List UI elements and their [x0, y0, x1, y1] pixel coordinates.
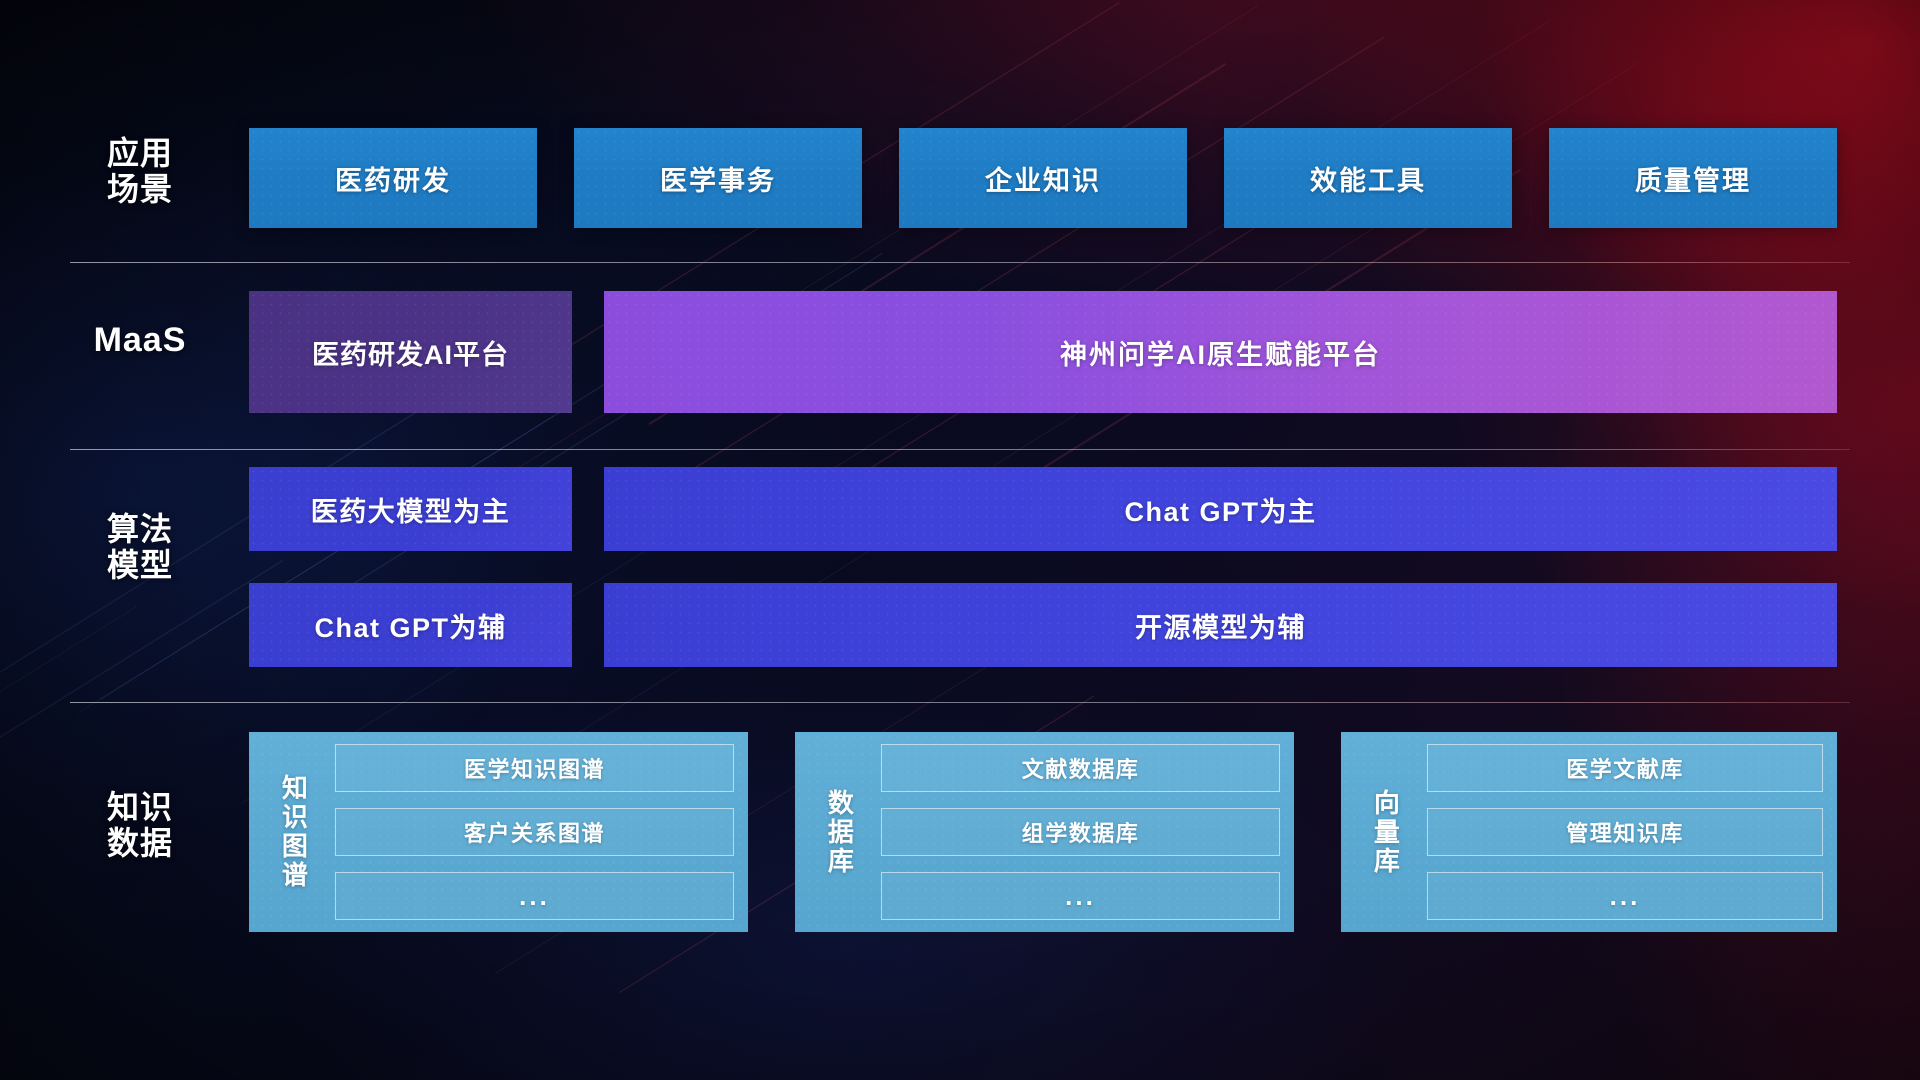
app-box-label: 医药研发 [335, 159, 451, 198]
app-box-label: 质量管理 [1635, 159, 1751, 198]
algo-box-label: Chat GPT为主 [1124, 490, 1316, 529]
app-box-quality-management[interactable]: 质量管理 [1549, 128, 1837, 228]
algo-box-chatgpt-primary[interactable]: Chat GPT为主 [604, 467, 1837, 551]
app-box-medicine-rnd[interactable]: 医药研发 [249, 128, 537, 228]
row-label-algorithm-models: 算法 模型 [70, 512, 210, 584]
maas-panel-shenzhou-wenxue-platform[interactable]: 神州问学AI原生赋能平台 [604, 291, 1837, 413]
knowledge-card-vector-store[interactable]: 向量库 医学文献库 管理知识库 ... [1341, 732, 1837, 932]
row-label-line: 应用 [70, 136, 210, 172]
algo-box-medicine-large-model-primary[interactable]: 医药大模型为主 [249, 467, 572, 551]
app-box-label: 效能工具 [1310, 159, 1426, 198]
algo-box-label: Chat GPT为辅 [314, 606, 506, 645]
knowledge-item[interactable]: 文献数据库 [881, 744, 1280, 792]
app-box-enterprise-knowledge[interactable]: 企业知识 [899, 128, 1187, 228]
knowledge-card-vertical-label: 数据库 [809, 744, 869, 920]
app-box-label: 医学事务 [660, 159, 776, 198]
app-box-label: 企业知识 [985, 159, 1101, 198]
knowledge-item[interactable]: 医学文献库 [1427, 744, 1823, 792]
row-label-line: 知识 [70, 790, 210, 826]
knowledge-card-items: 文献数据库 组学数据库 ... [869, 744, 1280, 920]
algo-box-chatgpt-secondary[interactable]: Chat GPT为辅 [249, 583, 572, 667]
knowledge-item[interactable]: 管理知识库 [1427, 808, 1823, 856]
knowledge-item-more[interactable]: ... [1427, 872, 1823, 920]
architecture-diagram: 应用 场景 医药研发 医学事务 企业知识 效能工具 质量管理 MaaS 医药研发… [0, 0, 1920, 1080]
knowledge-item[interactable]: 医学知识图谱 [335, 744, 734, 792]
maas-panel-label: 医药研发AI平台 [312, 333, 509, 372]
row-label-application-scenarios: 应用 场景 [70, 136, 210, 208]
row-label-knowledge-data: 知识 数据 [70, 790, 210, 862]
knowledge-card-database[interactable]: 数据库 文献数据库 组学数据库 ... [795, 732, 1294, 932]
divider-after-application-scenarios [70, 262, 1850, 263]
divider-after-algorithm-models [70, 702, 1850, 703]
algo-box-label: 医药大模型为主 [311, 490, 511, 529]
knowledge-item-more[interactable]: ... [335, 872, 734, 920]
row-label-line: 模型 [70, 548, 210, 584]
row-label-line: 场景 [70, 172, 210, 208]
knowledge-card-knowledge-graph[interactable]: 知识图谱 医学知识图谱 客户关系图谱 ... [249, 732, 748, 932]
maas-panel-medicine-rnd-ai-platform[interactable]: 医药研发AI平台 [249, 291, 572, 413]
maas-panel-label: 神州问学AI原生赋能平台 [1060, 333, 1381, 372]
knowledge-card-vertical-label: 向量库 [1355, 744, 1415, 920]
knowledge-card-items: 医学知识图谱 客户关系图谱 ... [323, 744, 734, 920]
algo-box-opensource-model-secondary[interactable]: 开源模型为辅 [604, 583, 1837, 667]
divider-after-maas [70, 449, 1850, 450]
app-box-medical-affairs[interactable]: 医学事务 [574, 128, 862, 228]
row-label-line: 数据 [70, 826, 210, 862]
knowledge-item[interactable]: 客户关系图谱 [335, 808, 734, 856]
knowledge-card-vertical-label: 知识图谱 [263, 744, 323, 920]
algo-box-label: 开源模型为辅 [1135, 606, 1306, 645]
row-label-line: MaaS [70, 321, 210, 359]
app-box-efficiency-tools[interactable]: 效能工具 [1224, 128, 1512, 228]
knowledge-card-items: 医学文献库 管理知识库 ... [1415, 744, 1823, 920]
knowledge-item-more[interactable]: ... [881, 872, 1280, 920]
row-label-maas: MaaS [70, 321, 210, 359]
knowledge-item[interactable]: 组学数据库 [881, 808, 1280, 856]
row-label-line: 算法 [70, 512, 210, 548]
